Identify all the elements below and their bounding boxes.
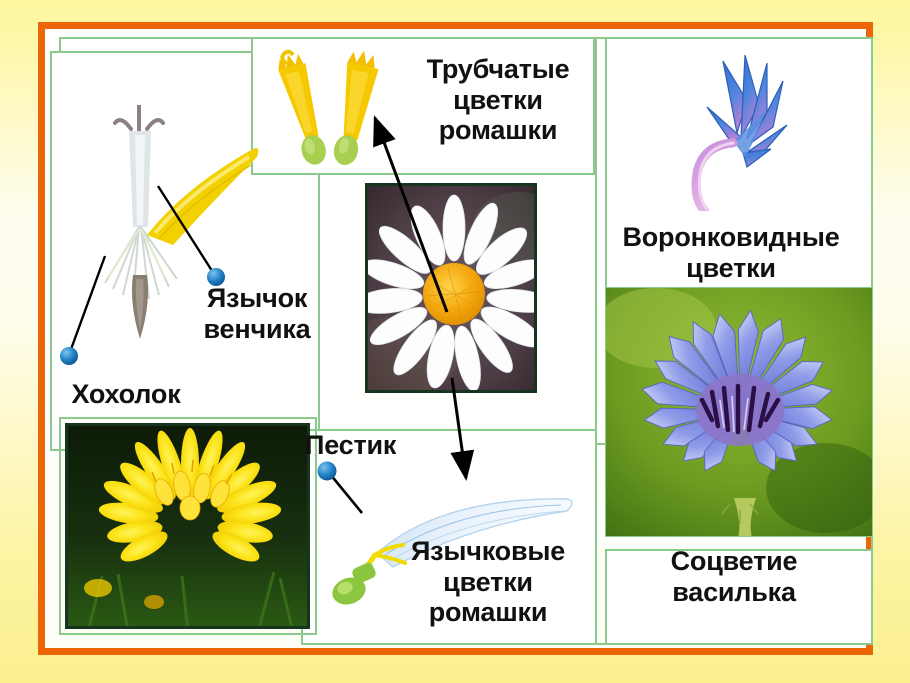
- photo-dandelion: [65, 423, 310, 629]
- photo-cornflower: [605, 287, 873, 537]
- caption-pappus: Хохолок: [52, 379, 200, 410]
- figure-tubular-flowers: [257, 43, 397, 171]
- caption-pistil: Пестик: [305, 430, 435, 461]
- caption-ligule: Язычок венчика: [182, 283, 332, 344]
- caption-ligulate: Язычковые цветки ромашки: [398, 536, 578, 628]
- figure-funnel-flower: [663, 41, 823, 211]
- caption-tubular: Трубчатые цветки ромашки: [398, 54, 598, 146]
- caption-funnel: Воронковидные цветки: [600, 222, 862, 283]
- photo-daisy: [365, 183, 537, 393]
- caption-cornflower-head: Соцветие василька: [610, 546, 858, 607]
